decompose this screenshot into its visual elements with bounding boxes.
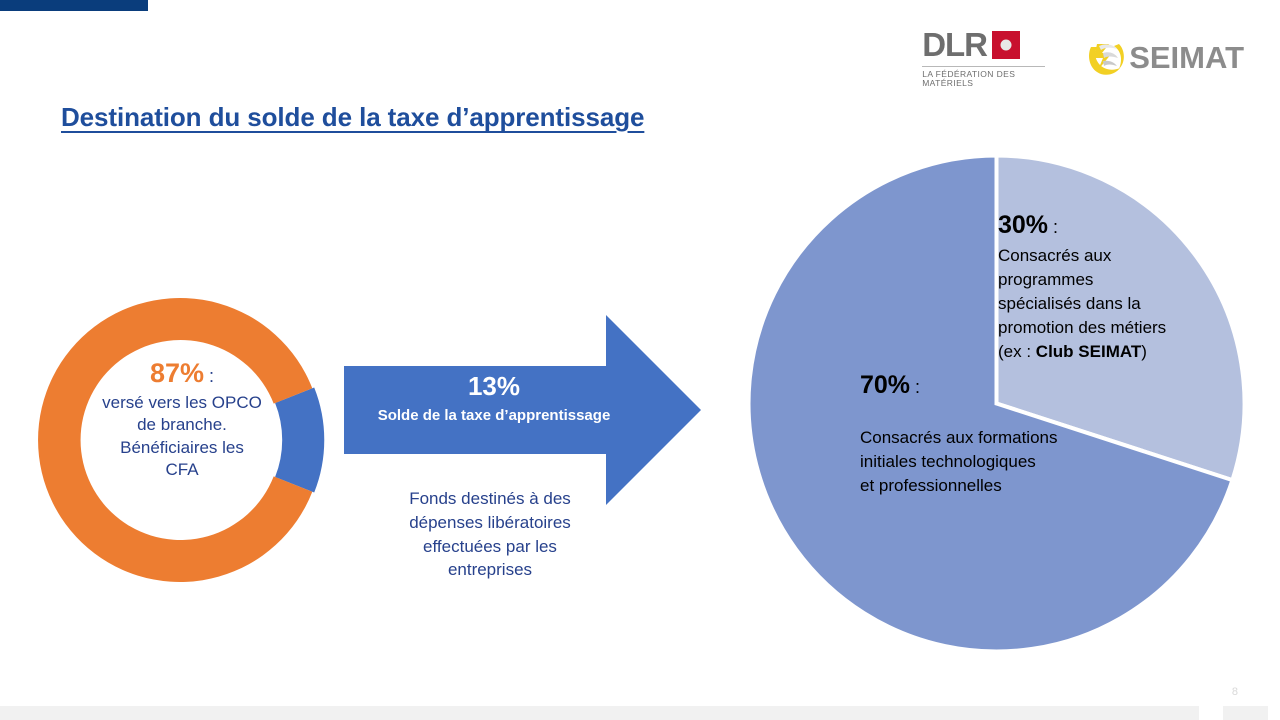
flow-arrow-svg <box>344 310 702 510</box>
pie-30-line-2: programmes <box>998 268 1246 292</box>
pie-label-70: 70% : Consacrés aux formations initiales… <box>860 368 1140 498</box>
page-title: Destination du solde de la taxe d’appren… <box>61 102 644 133</box>
donut-percent-value: 87% <box>150 358 204 388</box>
dlr-logo-tagline: LA FÉDÉRATION DES MATÉRIELS <box>922 66 1045 87</box>
pie-70-line-2: initiales technologiques <box>860 450 1140 474</box>
footer-band <box>0 706 1280 720</box>
dlr-logo-top: DLR <box>922 28 1020 61</box>
pie-70-line-3: et professionnelles <box>860 474 1140 498</box>
page-number: 8 <box>1232 686 1238 698</box>
dlr-logo-letters: DLR <box>922 28 987 61</box>
flow-arrow-caption-line-4: entreprises <box>360 558 620 582</box>
pie-30-line-5: (ex : Club SEIMAT) <box>998 340 1246 364</box>
flow-arrow-caption: Fonds destinés à des dépenses libératoir… <box>360 487 620 582</box>
donut-percent-row: 87% : <box>28 356 336 392</box>
flow-arrow: 13% Solde de la taxe d’apprentissage <box>344 310 702 510</box>
flow-arrow-caption-line-2: dépenses libératoires <box>360 511 620 535</box>
donut-description-line-4: CFA <box>28 459 336 481</box>
pie-30-line-5-suffix: ) <box>1141 342 1147 361</box>
pie-30-line-5-bold: Club SEIMAT <box>1036 342 1141 361</box>
pie-70-line-1: Consacrés aux formations <box>860 426 1140 450</box>
logo-group: DLR LA FÉDÉRATION DES MATÉRIELS SEIMAT <box>922 28 1244 87</box>
pie-30-percent-row: 30% : <box>998 208 1246 244</box>
footer-band-gap-right <box>1268 706 1280 720</box>
pie-30-line-1: Consacrés aux <box>998 244 1246 268</box>
footer-band-gap-left <box>1199 706 1223 720</box>
pie-30-line-4: promotion des métiers <box>998 316 1246 340</box>
pie-30-line-3: spécialisés dans la <box>998 292 1246 316</box>
pie-70-percent-colon: : <box>910 377 920 397</box>
donut-description-line-3: Bénéficiaires les <box>28 437 336 459</box>
top-accent-bar <box>0 0 148 11</box>
pie-label-30: 30% : Consacrés aux programmes spécialis… <box>998 208 1246 364</box>
seimat-logo-mark-icon <box>1085 37 1127 79</box>
donut-description-line-2: de branche. <box>28 414 336 436</box>
seimat-logo: SEIMAT <box>1085 37 1244 79</box>
donut-chart: 87% : versé vers les OPCO de branche. Bé… <box>38 296 326 584</box>
seimat-logo-text: SEIMAT <box>1129 42 1244 73</box>
pie-70-percent-value: 70% <box>860 371 910 399</box>
pie-30-line-5-prefix: (ex : <box>998 342 1036 361</box>
flow-arrow-shape <box>344 315 701 505</box>
pie-30-percent-colon: : <box>1048 217 1058 237</box>
donut-center-label: 87% : versé vers les OPCO de branche. Bé… <box>28 356 336 481</box>
dlr-logo: DLR LA FÉDÉRATION DES MATÉRIELS <box>922 28 1045 87</box>
flow-arrow-caption-line-3: effectuées par les <box>360 535 620 559</box>
donut-description-line-1: versé vers les OPCO <box>28 392 336 414</box>
flow-arrow-caption-line-1: Fonds destinés à des <box>360 487 620 511</box>
dlr-logo-square-icon <box>992 31 1020 59</box>
donut-percent-colon: : <box>204 366 214 386</box>
pie-70-percent-row: 70% : <box>860 368 1140 404</box>
slide-canvas: DLR LA FÉDÉRATION DES MATÉRIELS SEIMAT D… <box>0 0 1280 720</box>
pie-30-percent-value: 30% <box>998 211 1048 239</box>
